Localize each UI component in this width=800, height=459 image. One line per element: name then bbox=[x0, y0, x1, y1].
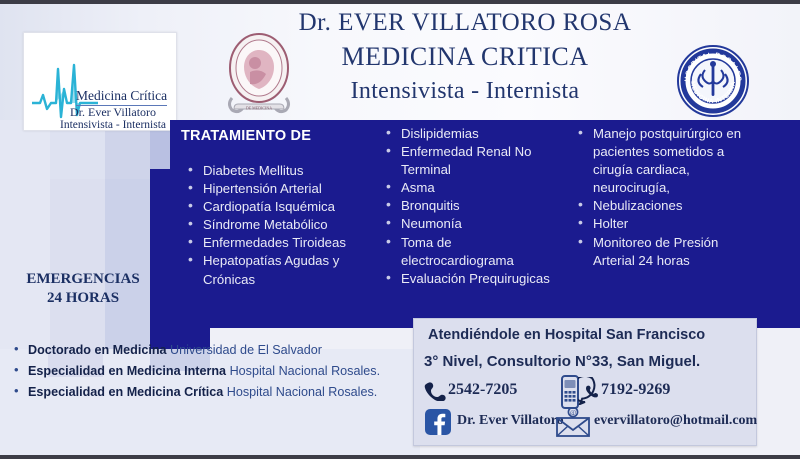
service-item: Síndrome Metabólico bbox=[184, 216, 384, 234]
service-item: Holter bbox=[574, 215, 800, 233]
emergency-notice: EMERGENCIAS 24 HORAS bbox=[8, 270, 158, 308]
services-panel: TRATAMIENTO DE Diabetes MellitusHiperten… bbox=[170, 120, 800, 328]
service-item: Neumonía bbox=[382, 215, 578, 233]
services-column-left: Diabetes MellitusHipertensión ArterialCa… bbox=[184, 162, 384, 289]
service-item: Hepatopatías Agudas y bbox=[184, 252, 384, 270]
specialty-subtitle: Intensivista - Internista bbox=[250, 74, 680, 108]
service-item: cirugía cardiaca, bbox=[574, 161, 800, 179]
service-item: Diabetes Mellitus bbox=[184, 162, 384, 180]
clinic-location: Atendiéndole en Hospital San Francisco bbox=[428, 327, 705, 343]
service-item: Arterial 24 horas bbox=[574, 252, 800, 270]
practice-logo-box: Medicina Crítica Dr. Ever Villatoro Inte… bbox=[23, 32, 177, 131]
credential-institution: Hospital Nacional Rosales. bbox=[226, 364, 380, 378]
doctor-name: Dr. EVER VILLATORO ROSA bbox=[250, 6, 680, 40]
logo-line-1: Medicina Crítica bbox=[76, 88, 167, 106]
credential-institution: Hospital Nacional Rosales. bbox=[223, 385, 377, 399]
service-item: electrocardiograma bbox=[382, 252, 578, 270]
envelope-at-icon: @ bbox=[555, 407, 591, 437]
credential-degree: Especialidad en Medicina Crítica bbox=[28, 385, 223, 399]
clinic-address: 3° Nivel, Consultorio N°33, San Miguel. bbox=[424, 353, 700, 370]
mobile-phone-icon bbox=[560, 375, 580, 409]
services-column-middle: DislipidemiasEnfermedad Renal NoTerminal… bbox=[382, 125, 578, 288]
credentials-list: Doctorado en Medicina Universidad de El … bbox=[8, 340, 408, 403]
landline-number[interactable]: 2542-7205 bbox=[448, 381, 517, 399]
service-item: Cardiopatía Isquémica bbox=[184, 198, 384, 216]
service-item: Asma bbox=[382, 179, 578, 197]
service-item: Toma de bbox=[382, 234, 578, 252]
emergency-line-2: 24 HORAS bbox=[8, 289, 158, 308]
service-item: Nebulizaciones bbox=[574, 197, 800, 215]
service-item: Enfermedad Renal No bbox=[382, 143, 578, 161]
service-item: neurocirugía, bbox=[574, 179, 800, 197]
service-item: Enfermedades Tiroideas bbox=[184, 234, 384, 252]
credential-item: Especialidad en Medicina Interna Hospita… bbox=[8, 361, 408, 381]
logo-line-3: Intensivista - Internista bbox=[60, 119, 166, 131]
logo-line-2: Dr. Ever Villatoro bbox=[70, 105, 156, 120]
service-item: Terminal bbox=[382, 161, 578, 179]
service-item: Bronquitis bbox=[382, 197, 578, 215]
business-card: DE MEDICINA Dr. EVER VILLATORO ROSA MEDI… bbox=[0, 0, 800, 459]
phone-handset-icon bbox=[424, 381, 446, 401]
mosaic-tile bbox=[105, 179, 150, 349]
bottom-border-rule bbox=[0, 455, 800, 459]
credential-item: Doctorado en Medicina Universidad de El … bbox=[8, 340, 408, 360]
facebook-page-name[interactable]: Dr. Ever Villatoro bbox=[457, 413, 564, 429]
service-item: Hipertensión Arterial bbox=[184, 180, 384, 198]
contact-card: Atendiéndole en Hospital San Francisco 3… bbox=[413, 318, 757, 446]
credential-item: Especialidad en Medicina Crítica Hospita… bbox=[8, 382, 408, 402]
credential-degree: Doctorado en Medicina bbox=[28, 343, 167, 357]
services-panel-title: TRATAMIENTO DE bbox=[181, 128, 311, 144]
hospital-rosales-seal-icon: HOSPITAL ROSALES MEDICINA INTERNA bbox=[676, 44, 750, 118]
services-column-right: Manejo postquirúrgico enpacientes someti… bbox=[574, 125, 800, 270]
credential-degree: Especialidad en Medicina Interna bbox=[28, 364, 226, 378]
service-item: pacientes sometidos a bbox=[574, 143, 800, 161]
header-title-block: Dr. EVER VILLATORO ROSA MEDICINA CRITICA… bbox=[250, 6, 680, 108]
mosaic-tile bbox=[50, 179, 105, 349]
service-item: Dislipidemias bbox=[382, 125, 578, 143]
emergency-line-1: EMERGENCIAS bbox=[8, 270, 158, 289]
facebook-icon[interactable] bbox=[425, 409, 451, 435]
mobile-number[interactable]: 7192-9269 bbox=[601, 381, 670, 399]
service-item: Monitoreo de Presión bbox=[574, 234, 800, 252]
service-item: Manejo postquirúrgico en bbox=[574, 125, 800, 143]
credential-institution: Universidad de El Salvador bbox=[167, 343, 322, 357]
service-item: Evaluación Prequirugicas bbox=[382, 270, 578, 288]
specialty-title: MEDICINA CRITICA bbox=[250, 40, 680, 74]
email-address[interactable]: evervillatoro@hotmail.com bbox=[594, 413, 757, 429]
service-item: Crónicas bbox=[184, 271, 384, 289]
svg-text:@: @ bbox=[570, 409, 577, 417]
